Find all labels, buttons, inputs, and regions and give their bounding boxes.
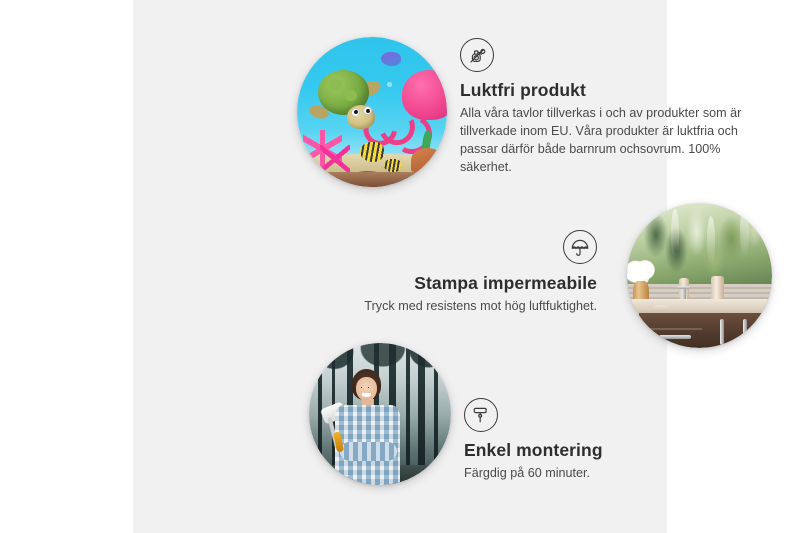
blue-fish (381, 52, 401, 66)
octopus-head (402, 70, 447, 120)
umbrella-icon-glyph (569, 236, 591, 258)
umbrella-icon (563, 230, 597, 264)
turtle-eye (363, 106, 372, 115)
feature-title: Luktfri produkt (460, 80, 750, 101)
tree-trunk (434, 343, 438, 485)
rock (411, 148, 444, 172)
product-image-underwater-cartoon-mural[interactable] (297, 37, 447, 187)
paint-roller-icon (464, 398, 498, 432)
bubble-decor (387, 82, 392, 87)
octopus-eye (446, 86, 447, 90)
turtle-eye (351, 108, 360, 117)
feature-icon-wrap (460, 38, 750, 72)
feature-icon-wrap (464, 398, 724, 432)
feature-block-waterproof: Stampa impermeabile Tryck med resistens … (345, 230, 597, 316)
woman-crossed-arms (340, 442, 397, 460)
cabinet-handle (743, 319, 747, 345)
feature-title: Enkel montering (464, 440, 724, 461)
woman-smile (362, 393, 372, 397)
drawer-seam (642, 328, 703, 330)
tree-trunk (406, 343, 410, 485)
soap-dish (653, 305, 669, 312)
feature-title: Stampa impermeabile (345, 273, 597, 294)
photo-inner (309, 343, 451, 485)
product-image-woman-with-paint-roller-forest-mural[interactable] (309, 343, 451, 485)
feature-block-odorless: Luktfri produkt Alla våra tavlor tillver… (460, 38, 750, 177)
leaf-highlight (671, 209, 680, 258)
feature-description: Färgdig på 60 minuter. (464, 465, 724, 483)
photo-inner (297, 37, 447, 187)
paint-roller-icon-glyph (470, 404, 492, 426)
feature-description: Tryck med resistens mot hög luftfuktighe… (345, 298, 597, 316)
sea-floor-shadow (297, 172, 447, 187)
leaf-highlight (707, 216, 716, 265)
yellow-fish-small (384, 159, 401, 173)
scene-forest (309, 343, 451, 485)
feature-description: Alla våra tavlor tillverkas i och av pro… (460, 105, 750, 177)
yellow-fish (360, 142, 384, 162)
feature-icon-wrap (345, 230, 597, 264)
cabinet-handle (720, 319, 724, 345)
vanity-cabinet (639, 313, 767, 348)
coral-magenta (320, 145, 350, 175)
photo-inner (627, 203, 772, 348)
drawer-handle (659, 335, 691, 339)
content-panel: Luktfri produkt Alla våra tavlor tillver… (133, 0, 667, 533)
feature-block-easy-install: Enkel montering Färgdig på 60 minuter. (464, 398, 724, 483)
screenshot-root: Luktfri produkt Alla våra tavlor tillver… (0, 0, 800, 533)
no-fragrance-icon (460, 38, 494, 72)
product-image-bathroom-tropical-leaf-wallpaper[interactable] (627, 203, 772, 348)
tree-trunk (418, 343, 424, 485)
scene-bathroom (627, 203, 772, 348)
scene-underwater (297, 37, 447, 187)
leaf-highlight (740, 207, 749, 256)
no-fragrance-icon-glyph (466, 44, 488, 66)
